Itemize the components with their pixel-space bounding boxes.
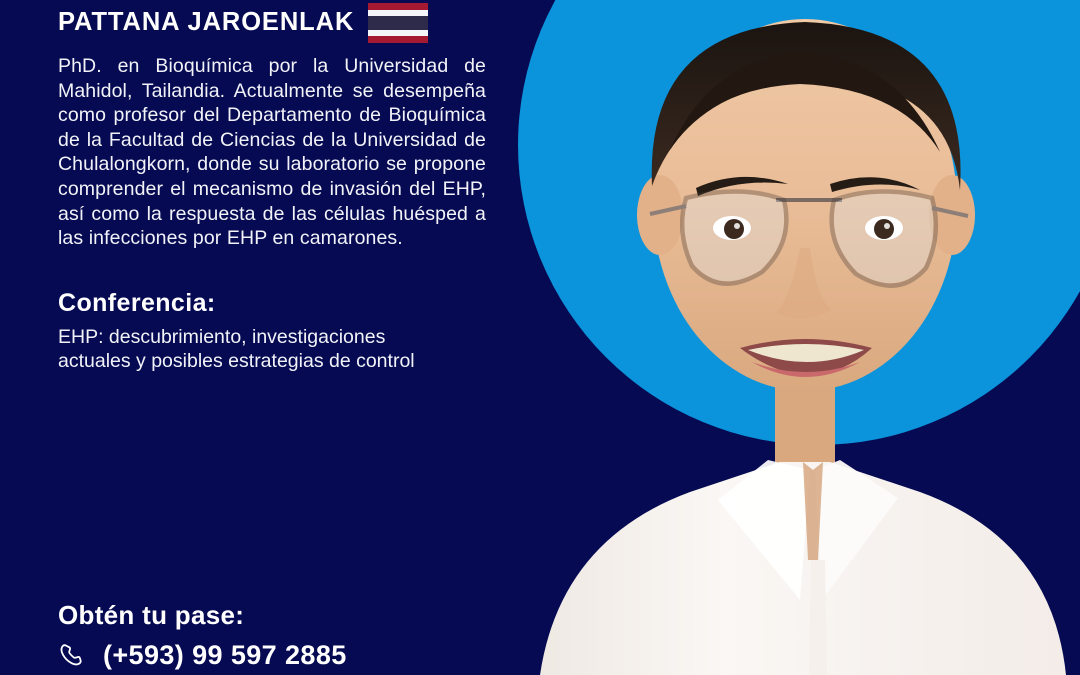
speaker-info-panel: PATTANA JAROENLAK PhD. en Bioquímica por… <box>58 0 486 374</box>
conference-title-line-2: actuales y posibles estrategias de contr… <box>58 349 478 374</box>
get-pass-block: Obtén tu pase: (+593) 99 597 2885 <box>58 600 498 669</box>
speaker-portrait <box>500 0 1080 675</box>
speaker-name-row: PATTANA JAROENLAK <box>58 2 486 44</box>
contact-phone-row[interactable]: (+593) 99 597 2885 <box>58 642 498 669</box>
conference-title: EHP: descubrimiento, investigaciones act… <box>58 325 478 374</box>
get-pass-heading: Obtén tu pase: <box>58 600 498 631</box>
portrait-composition <box>500 0 1080 675</box>
speaker-name: PATTANA JAROENLAK <box>58 10 354 36</box>
conference-label: Conferencia: <box>58 289 486 318</box>
thailand-flag-icon <box>368 3 428 43</box>
phone-icon <box>58 642 85 669</box>
conference-title-line-1: EHP: descubrimiento, investigaciones <box>58 325 478 350</box>
speaker-bio: PhD. en Bioquímica por la Universidad de… <box>58 54 486 251</box>
speaker-announcement-poster: PATTANA JAROENLAK PhD. en Bioquímica por… <box>0 0 1080 675</box>
phone-number[interactable]: (+593) 99 597 2885 <box>103 642 347 669</box>
